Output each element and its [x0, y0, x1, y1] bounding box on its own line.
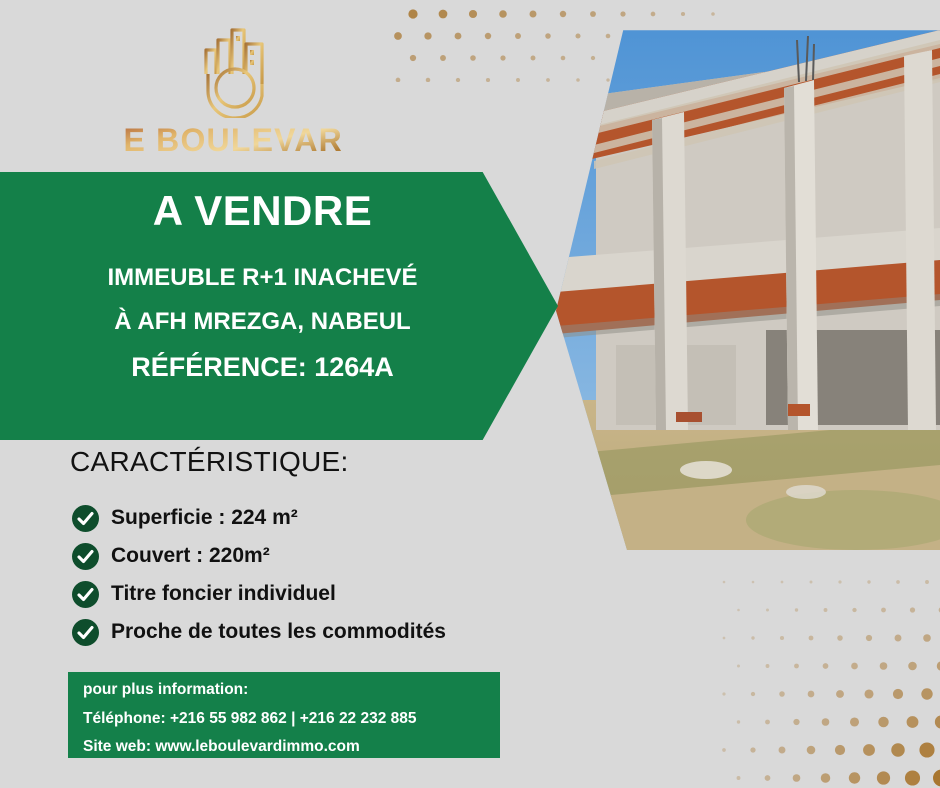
list-item: Proche de toutes les commodités [72, 617, 542, 647]
check-circle-icon [72, 505, 99, 532]
property-reference: RÉFÉRENCE: 1264A [131, 354, 394, 381]
property-photo [556, 0, 940, 550]
characteristics-title: CARACTÉRISTIQUE: [70, 446, 349, 478]
building-skyline-icon [192, 22, 278, 118]
svg-text:LE BOULEVARD: LE BOULEVARD [125, 122, 345, 158]
contact-phone[interactable]: Téléphone: +216 55 982 862 | +216 22 232… [83, 711, 500, 727]
check-circle-icon [72, 581, 99, 608]
property-location: À AFH MREZGA, NABEUL [114, 310, 410, 334]
feature-label: Titre foncier individuel [111, 582, 336, 606]
list-item: Titre foncier individuel [72, 579, 542, 609]
feature-label: Proche de toutes les commodités [111, 620, 446, 644]
contact-website[interactable]: Site web: www.leboulevardimmo.com [83, 739, 500, 755]
characteristics-list: Superficie : 224 m² Couvert : 220m² Titr… [72, 503, 542, 655]
property-type: IMMEUBLE R+1 INACHEVÉ [107, 266, 417, 290]
check-circle-icon [72, 619, 99, 646]
list-item: Couvert : 220m² [72, 541, 542, 571]
decorative-dots-bottom [710, 568, 940, 788]
contact-panel: pour plus information: Téléphone: +216 5… [68, 672, 500, 758]
check-circle-icon [72, 543, 99, 570]
contact-heading: pour plus information: [83, 682, 500, 698]
feature-label: Couvert : 220m² [111, 544, 270, 568]
poster-canvas: A VENDRE IMMEUBLE R+1 INACHEVÉ À AFH MRE… [0, 0, 940, 788]
brand-logo: LE BOULEVARD [110, 22, 360, 162]
feature-label: Superficie : 224 m² [111, 506, 298, 530]
headline-banner: A VENDRE IMMEUBLE R+1 INACHEVÉ À AFH MRE… [0, 172, 558, 440]
brand-wordmark: LE BOULEVARD [125, 120, 345, 160]
page-title: A VENDRE [153, 190, 372, 232]
list-item: Superficie : 224 m² [72, 503, 542, 533]
